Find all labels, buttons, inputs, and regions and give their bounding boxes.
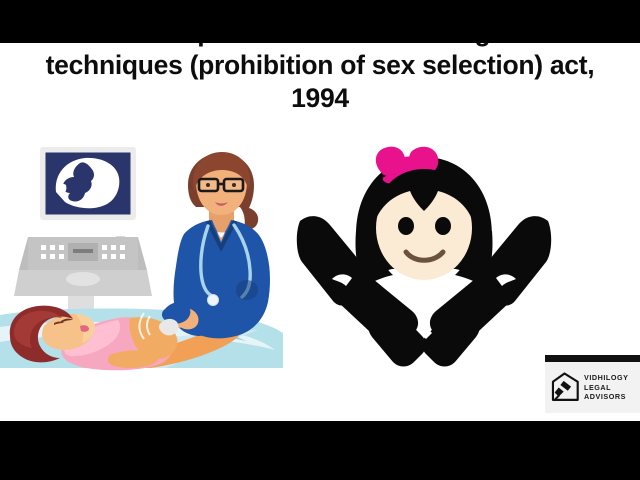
logo-top-rule <box>545 355 640 362</box>
ultrasound-examination-illustration <box>0 130 292 378</box>
girl-eye-right-icon <box>435 217 451 235</box>
letterbox-top <box>0 0 640 43</box>
letterbox-bottom <box>0 421 640 480</box>
logo-wordmark: VIDHILOGY LEGAL ADVISORS <box>584 373 640 402</box>
gavel-in-diamond-icon <box>548 371 581 404</box>
logo-plate: VIDHILOGY LEGAL ADVISORS <box>545 362 640 413</box>
logo-line-2: LEGAL ADVISORS <box>584 383 640 402</box>
logo-line-1: VIDHILOGY <box>584 373 640 383</box>
stethoscope-chestpiece-icon <box>208 295 219 306</box>
vidhilogy-legal-advisors-logo: VIDHILOGY LEGAL ADVISORS <box>545 355 640 421</box>
ultrasound-monitor-icon <box>40 147 136 220</box>
video-slide: Pre conception and Pre natal diagnostic … <box>0 0 640 480</box>
girl-protection-illustration <box>296 131 552 378</box>
girl-eye-left-icon <box>398 217 414 235</box>
